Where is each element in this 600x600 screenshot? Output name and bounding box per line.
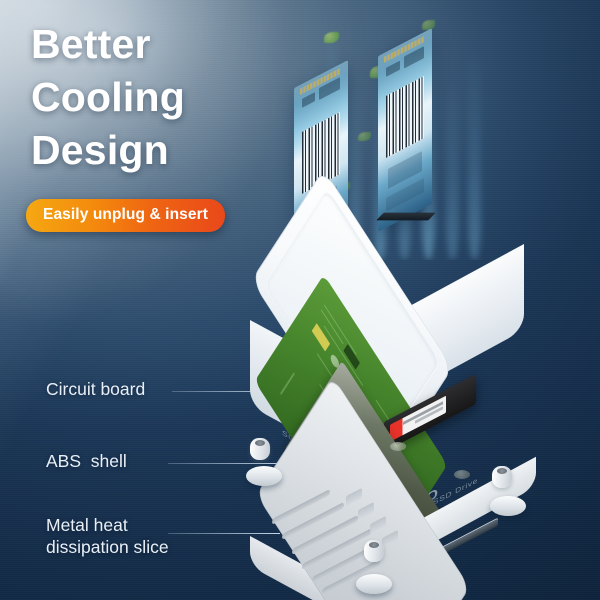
m2-ssd-module [378,28,432,232]
feature-badge: Easily unplug & insert [26,199,225,232]
callout-label-metal-heat-slice: Metal heat dissipation slice [46,514,169,558]
screw-boss [364,540,384,566]
abs-shell-layer [228,418,568,600]
rubber-foot [490,496,526,516]
shell-vent-ribs [272,504,422,590]
screw-boss [492,466,512,492]
rubber-foot [356,574,392,594]
callout-label-abs-shell: ABS shell [46,450,127,472]
callout-label-circuit-board: Circuit board [46,378,145,400]
rubber-foot [246,466,282,486]
exploded-device-illustration: Support M.2 SSD M.2 SSD Drive MAIWO [228,14,600,600]
screw-boss [250,438,270,464]
product-marketing-image: Better Cooling Design Easily unplug & in… [0,0,600,600]
